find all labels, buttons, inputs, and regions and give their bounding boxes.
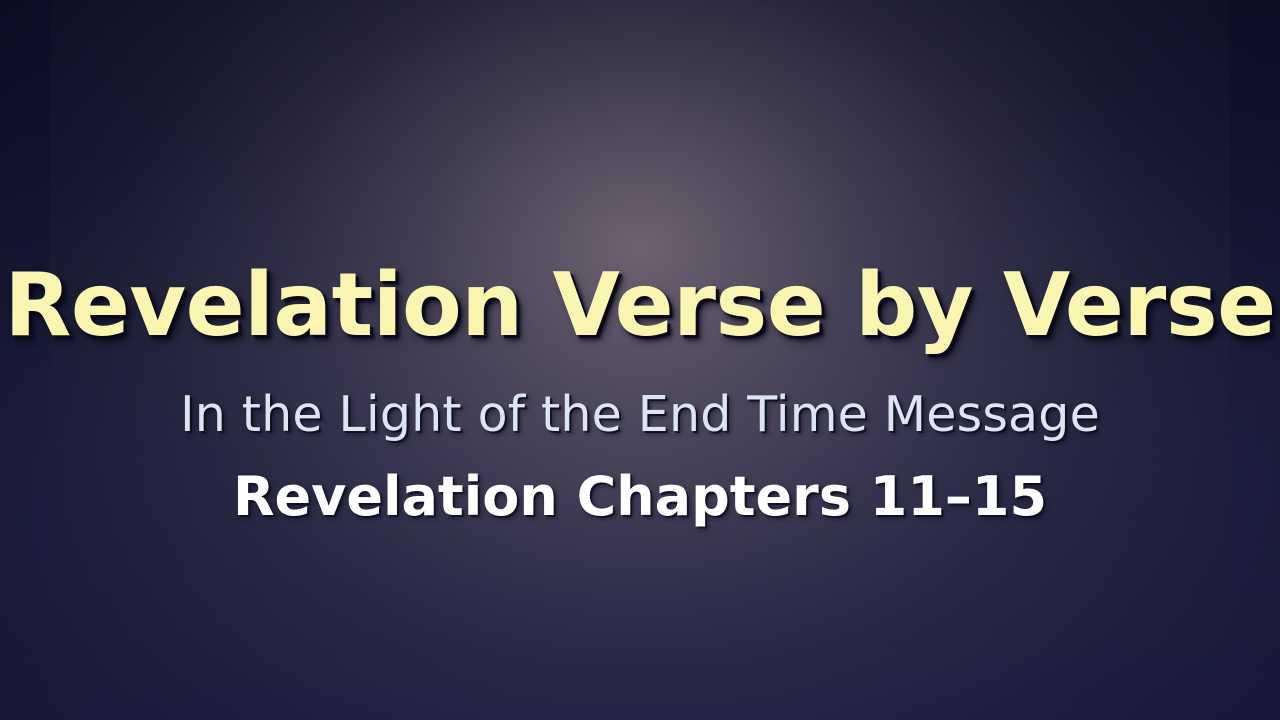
slide-scripture-range: Revelation Chapters 11–15	[0, 470, 1280, 524]
title-slide: Revelation Verse by Verse In the Light o…	[0, 0, 1280, 720]
slide-subtitle: In the Light of the End Time Message	[0, 390, 1280, 439]
slide-text-block: Revelation Verse by Verse In the Light o…	[0, 0, 1280, 720]
slide-title: Revelation Verse by Verse	[0, 262, 1280, 349]
